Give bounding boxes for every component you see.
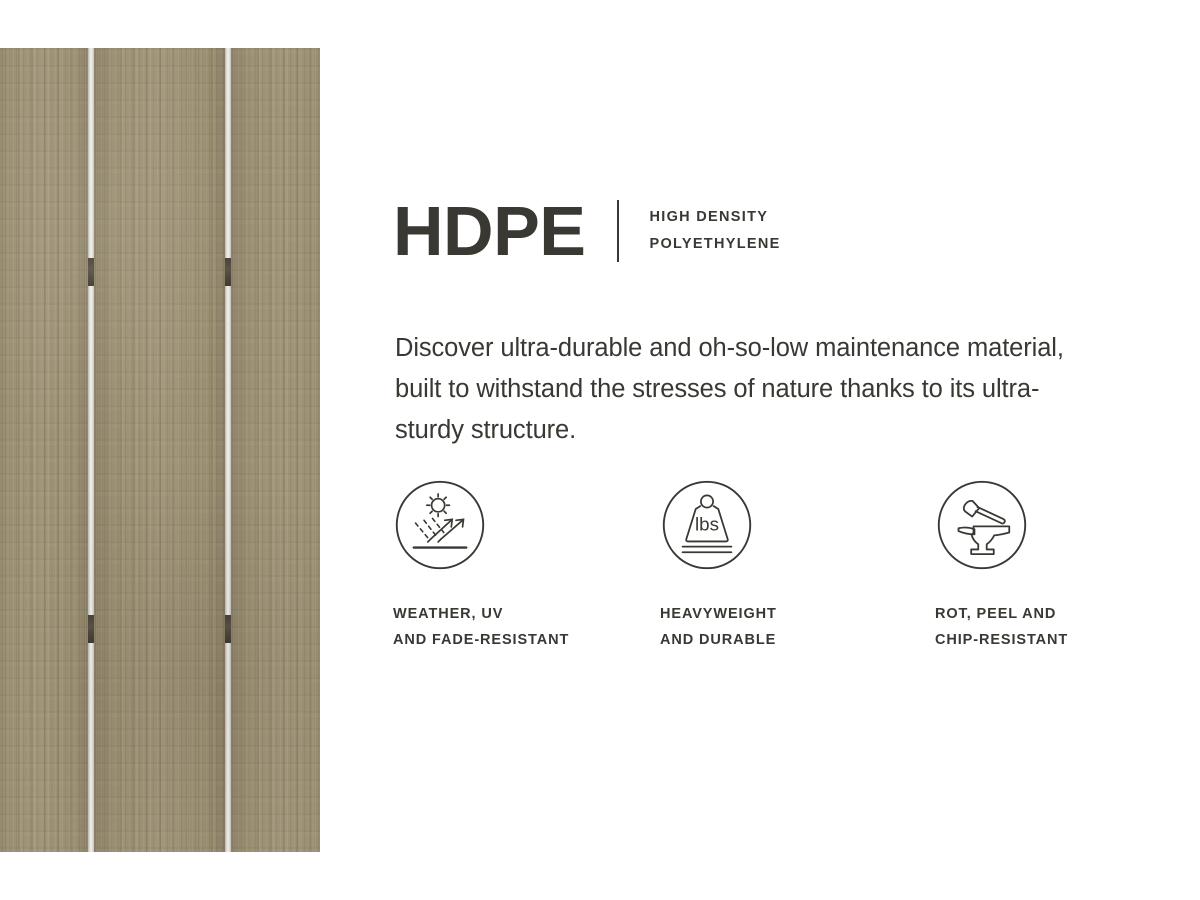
feature-item-weather-uv: WEATHER, UV AND FADE-RESISTANT [393, 478, 613, 654]
hidden-fastener-clip [225, 258, 231, 286]
product-image-panel [0, 48, 320, 852]
page-title: HDPE [393, 196, 585, 266]
weight-lbs-icon: lbs [660, 478, 754, 572]
feature-item-heavyweight: lbs HEAVYWEIGHT AND DURABLE [660, 478, 880, 654]
title-subtitle: HIGH DENSITY POLYETHYLENE [649, 204, 780, 258]
content-column: HDPE HIGH DENSITY POLYETHYLENE Discover … [393, 0, 1153, 900]
feature-item-rot-peel-chip: ROT, PEEL AND CHIP-RESISTANT [935, 478, 1155, 654]
decking-board-center [94, 48, 225, 852]
hammer-anvil-icon [935, 478, 1029, 572]
board-gap-right [225, 48, 231, 852]
body-paragraph: Discover ultra-durable and oh-so-low mai… [395, 328, 1095, 451]
decking-board-left [0, 48, 88, 852]
board-gap-left [88, 48, 94, 852]
subtitle-line-2: POLYETHYLENE [649, 231, 780, 258]
feature-caption: HEAVYWEIGHT AND DURABLE [660, 601, 880, 654]
hidden-fastener-clip [88, 258, 94, 286]
heading-block: HDPE HIGH DENSITY POLYETHYLENE [393, 196, 781, 266]
subtitle-line-1: HIGH DENSITY [649, 204, 780, 231]
hidden-fastener-clip [88, 615, 94, 643]
hidden-fastener-clip [225, 615, 231, 643]
sun-uv-reflect-icon [393, 478, 487, 572]
feature-caption: WEATHER, UV AND FADE-RESISTANT [393, 601, 613, 654]
svg-text:lbs: lbs [695, 514, 719, 535]
decking-board-right [231, 48, 320, 852]
feature-caption: ROT, PEEL AND CHIP-RESISTANT [935, 601, 1155, 654]
title-divider [617, 200, 619, 262]
